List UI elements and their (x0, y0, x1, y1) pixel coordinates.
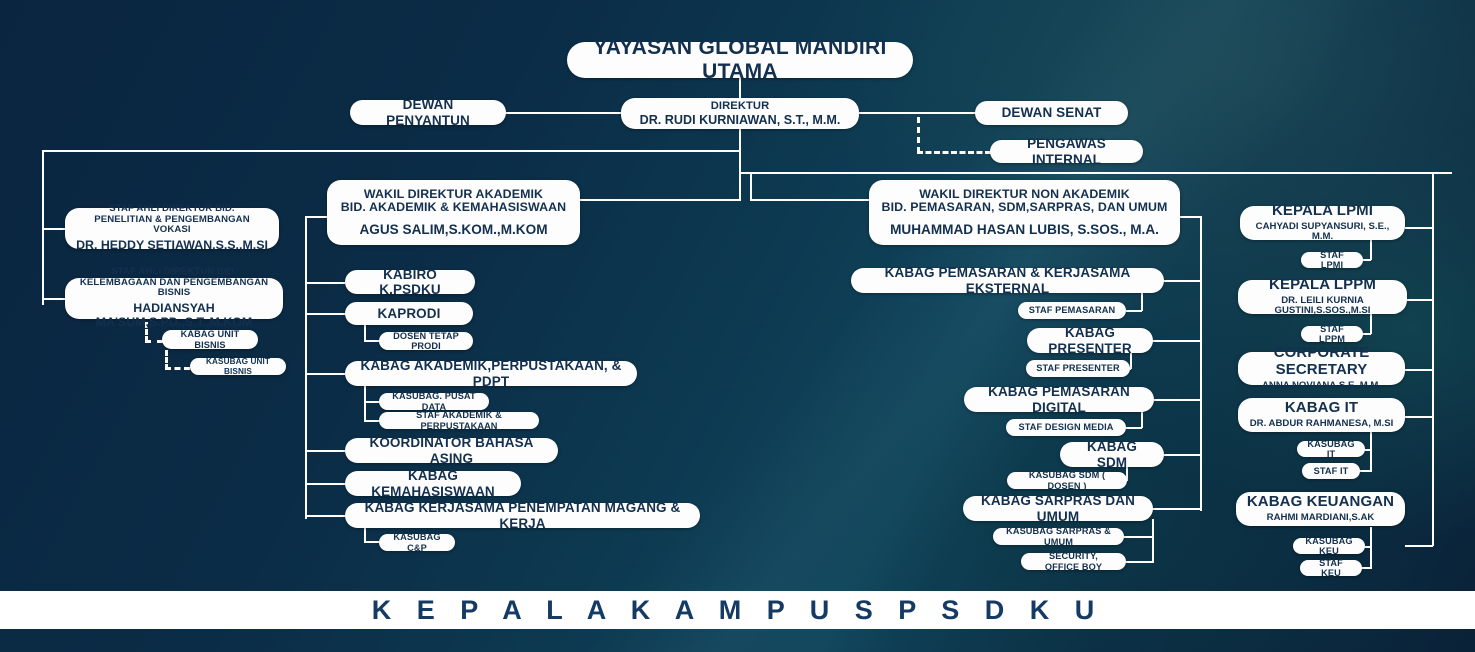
node-kepala-lppm[interactable]: KEPALA LPPM DR. LEILI KURNIA GUSTINI,S.S… (1238, 280, 1407, 314)
node-kasubag-sarpras-umum[interactable]: KASUBAG SARPRAS & UMUM (993, 528, 1124, 545)
connector-non-akademik-trunk (1200, 216, 1202, 511)
connector-right-col-4 (1405, 545, 1433, 547)
node-kabag-sarpras-umum[interactable]: KABAG SARPRAS DAN UMUM (963, 496, 1153, 521)
node-wakil-direktur-akademik[interactable]: WAKIL DIREKTUR AKADEMIK BID. AKADEMIK & … (327, 180, 580, 245)
connector-non-akademik-child-2 (1154, 399, 1202, 401)
node-dewan-senat[interactable]: DEWAN SENAT (975, 101, 1128, 125)
node-title: KASUBAG C&P (389, 532, 445, 553)
connector-kabag-akademik-sub-h2 (364, 420, 380, 422)
node-title: YAYASAN GLOBAL MANDIRI UTAMA (577, 36, 903, 83)
connector-akademik-child-5 (305, 515, 345, 517)
node-kasubag-pusat-data[interactable]: KASUBAG. PUSAT DATA (379, 393, 489, 410)
connector-non-akademik-child-4 (1152, 508, 1202, 510)
node-person-name: DR. RUDI KURNIAWAN, S.T., M.M. (640, 113, 841, 127)
footer-title: K E P A L A K A M P U S P S D K U (372, 595, 1104, 626)
node-staf-keu[interactable]: STAF KEU (1300, 560, 1362, 576)
node-wakil-direktur-non-akademik[interactable]: WAKIL DIREKTUR NON AKADEMIK BID. PEMASAR… (869, 180, 1180, 245)
connector-non-akademik-trunk-top (1178, 216, 1202, 218)
node-title: STAF AKADEMIK & PERPUSTAKAAN (389, 410, 529, 431)
node-title: KABIRO K.PSDKU (355, 267, 465, 297)
connector-sarpras-sub-h2 (1126, 561, 1153, 563)
node-person-name: MUHAMMAD HASAN LUBIS, S.SOS., M.A. (890, 222, 1159, 237)
node-person-name: DR. LEILI KURNIA GUSTINI,S.SOS.,M.SI (1248, 296, 1397, 317)
node-title: KASUBAG SARPRAS & UMUM (1003, 526, 1114, 547)
node-staf-ahli-kelembagaan[interactable]: STAF AHLI DIREKTUR BID. KELEMBAGAAN DAN … (65, 278, 283, 319)
connector-akademik-trunk-top (305, 216, 327, 218)
connector-right-col-3 (1405, 416, 1433, 418)
connector-direktur-to-dewan-senat (858, 112, 976, 114)
connector-trunk-to-wakil-akademik (739, 150, 741, 200)
connector-right-col-2 (1405, 369, 1433, 371)
connector-direktur-to-dewan-penyantun (505, 112, 625, 114)
connector-dashed-unit-bisnis-h (145, 340, 163, 343)
node-person-name: HADIANSYAH MA'SUM,S.PD.,S.T.,M.KOM (75, 302, 273, 330)
node-kaprodi[interactable]: KAPRODI (345, 302, 473, 325)
connector-kaprodi-sub-h (364, 340, 380, 342)
node-staf-lppm[interactable]: STAF LPPM (1301, 326, 1363, 342)
connector-main-bar-left (42, 150, 741, 152)
node-title: KABAG SARPRAS DAN UMUM (973, 493, 1143, 523)
node-title: PENGAWAS INTERNAL (1000, 136, 1133, 166)
node-direktur[interactable]: DIREKTUR DR. RUDI KURNIAWAN, S.T., M.M. (621, 98, 859, 129)
node-pengawas-internal[interactable]: PENGAWAS INTERNAL (990, 140, 1143, 163)
node-kabag-sdm[interactable]: KABAG SDM (1060, 442, 1164, 467)
node-kabag-kemahasiswaan[interactable]: KABAG KEMAHASISWAAN (345, 471, 521, 496)
connector-akademik-trunk (305, 216, 307, 519)
connector-pemasaran-sub-h (1126, 310, 1142, 312)
node-corporate-secretary[interactable]: CORPORATE SECRETARY ANNA NOVIANA,S.E.,M.… (1238, 352, 1405, 385)
connector-dashed-kasubag-unit-bisnis-h (165, 367, 190, 370)
node-title: DEWAN SENAT (1002, 105, 1102, 120)
node-kasubag-it[interactable]: KASUBAG IT (1297, 441, 1365, 457)
node-title: KABAG KEUANGAN (1247, 494, 1394, 511)
connector-keuangan-sub-v (1370, 527, 1372, 569)
connector-non-akademik-child-1 (1152, 340, 1202, 342)
connector-right-col-1 (1405, 299, 1433, 301)
node-person-name: DR. HEDDY SETIAWAN,S.S.,M.SI (76, 239, 268, 253)
node-security-office-boy[interactable]: SECURITY, OFFICE BOY (1021, 553, 1126, 570)
connector-staff-ahli-2 (42, 298, 65, 300)
node-staf-ahli-vokasi[interactable]: STAF AHLI DIREKTUR BID. PENELITIAN & PEN… (65, 208, 279, 249)
node-title: KOORDINATOR BAHASA ASING (355, 435, 548, 465)
connector-kabag-kerjasama-sub-h (364, 541, 380, 543)
node-kepala-lpmi[interactable]: KEPALA LPMI CAHYADI SUPYANSURI, S.E., M.… (1240, 206, 1405, 240)
node-person-name: ANNA NOVIANA,S.E.,M.M. (1262, 381, 1381, 392)
node-dosen-tetap-prodi[interactable]: DOSEN TETAP PRODI (379, 332, 473, 350)
node-staf-design-media[interactable]: STAF DESIGN MEDIA (1006, 419, 1126, 436)
node-title-line1: WAKIL DIREKTUR NON AKADEMIK (919, 188, 1130, 202)
node-title: CORPORATE SECRETARY (1248, 345, 1395, 379)
connector-wakil-akademik-in (578, 199, 741, 201)
node-kasubag-unit-bisnis[interactable]: KASUBAG UNIT BISNIS (190, 358, 286, 375)
connector-akademik-child-2 (305, 373, 345, 375)
node-title: STAF PEMASARAN (1029, 305, 1115, 315)
node-staf-akademik-perpustakaan[interactable]: STAF AKADEMIK & PERPUSTAKAAN (379, 412, 539, 429)
connector-wakil-non-akademik-in (750, 199, 870, 201)
node-dewan-penyantun[interactable]: DEWAN PENYANTUN (350, 100, 506, 125)
node-kasubag-keu[interactable]: KASUBAG KEU (1293, 538, 1365, 554)
node-kabag-kerjasama-magang-kerja[interactable]: KABAG KERJASAMA PENEMPATAN MAGANG & KERJ… (345, 503, 700, 528)
node-kabag-presenter[interactable]: KABAG PRESENTER (1027, 328, 1153, 353)
node-person-name: DR. ABDUR RAHMANESA, M.SI (1250, 419, 1394, 430)
node-title: KASUBAG. PUSAT DATA (389, 391, 479, 412)
node-title: STAF PRESENTER (1036, 363, 1119, 373)
connector-non-akademik-child-0 (1163, 280, 1202, 282)
connector-akademik-child-3 (305, 450, 345, 452)
node-kabag-unit-bisnis[interactable]: KABAG UNIT BISNIS (162, 330, 258, 349)
node-kabag-it[interactable]: KABAG IT DR. ABDUR RAHMANESA, M.SI (1238, 398, 1405, 432)
node-title: STAF IT (1314, 466, 1349, 476)
connector-digital-sub-h (1126, 427, 1142, 429)
node-title: KASUBAG SDM ( DOSEN ) (1017, 470, 1117, 491)
node-title: KABAG PEMASARAN DIGITAL (974, 384, 1144, 414)
node-title: SECURITY, OFFICE BOY (1031, 551, 1116, 572)
connector-akademik-child-4 (305, 483, 345, 485)
node-title: DEWAN PENYANTUN (360, 97, 496, 127)
connector-kabag-akademik-sub-h1 (364, 401, 380, 403)
connector-sarpras-sub-h1 (1124, 536, 1153, 538)
node-title: KABAG KEMAHASISWAAN (355, 468, 511, 498)
node-title: KABAG SDM (1070, 439, 1154, 469)
connector-staff-ahli-1 (42, 228, 65, 230)
node-title-line1: WAKIL DIREKTUR AKADEMIK (364, 188, 543, 202)
node-person-name: CAHYADI SUPYANSURI, S.E., M.M. (1250, 222, 1395, 243)
node-title-line2: BID. AKADEMIK & KEMAHASISWAAN (341, 201, 566, 215)
node-title: DIREKTUR (711, 100, 770, 113)
connector-akademik-child-0 (305, 282, 345, 284)
connector-direktur-down (739, 129, 741, 151)
node-person-name: AGUS SALIM,S.KOM.,M.KOM (359, 222, 547, 237)
node-koordinator-bahasa-asing[interactable]: KOORDINATOR BAHASA ASING (345, 438, 558, 463)
node-title: KEPALA LPMI (1272, 203, 1373, 220)
node-title: KABAG PEMASARAN & KERJASAMA EKSTERNAL (861, 265, 1154, 295)
node-title: KABAG AKADEMIK,PERPUSTAKAAN, & PDPT (355, 358, 627, 388)
node-yayasan-global-mandiri-utama[interactable]: YAYASAN GLOBAL MANDIRI UTAMA (567, 42, 913, 78)
connector-kabagit-sub-v (1370, 430, 1372, 472)
node-kabag-pemasaran-kerjasama-eksternal[interactable]: KABAG PEMASARAN & KERJASAMA EKSTERNAL (851, 268, 1164, 293)
node-title: KABAG KERJASAMA PENEMPATAN MAGANG & KERJ… (355, 500, 690, 530)
node-title-line2: PENELITIAN & PENGEMBANGAN VOKASI (75, 215, 269, 236)
org-chart-canvas: YAYASAN GLOBAL MANDIRI UTAMA DEWAN PENYA… (0, 0, 1475, 652)
connector-right-col-0 (1405, 227, 1433, 229)
connector-kaprodi-sub-v (364, 324, 366, 341)
node-kabag-akademik-perpustakaan-pdpt[interactable]: KABAG AKADEMIK,PERPUSTAKAAN, & PDPT (345, 361, 637, 386)
node-kabag-keuangan[interactable]: KABAG KEUANGAN RAHMI MARDIANI,S.AK (1236, 492, 1405, 526)
node-title-line2: KELEMBAGAAN DAN PENGEMBANGAN BISNIS (75, 278, 273, 299)
node-kabiro-kpsdku[interactable]: KABIRO K.PSDKU (345, 270, 475, 294)
node-staf-lpmi[interactable]: STAF LPMI (1301, 252, 1363, 268)
node-kasubag-sdm-dosen[interactable]: KASUBAG SDM ( DOSEN ) (1007, 472, 1127, 489)
connector-dashed-pengawas-vertical (917, 117, 920, 153)
connector-sarpras-sub-v (1152, 519, 1154, 563)
node-title: STAF LPPM (1311, 324, 1353, 345)
node-title: DOSEN TETAP PRODI (389, 331, 463, 352)
node-title: KAPRODI (378, 306, 441, 321)
node-staf-pemasaran[interactable]: STAF PEMASARAN (1018, 302, 1126, 319)
connector-non-akademik-child-3 (1163, 454, 1202, 456)
node-title: KABAG IT (1285, 400, 1358, 417)
node-kabag-pemasaran-digital[interactable]: KABAG PEMASARAN DIGITAL (964, 387, 1154, 412)
node-title: KABAG PRESENTER (1037, 325, 1143, 355)
footer-banner: K E P A L A K A M P U S P S D K U (0, 591, 1475, 629)
connector-akademik-child-1 (305, 313, 345, 315)
node-title: STAF DESIGN MEDIA (1019, 422, 1114, 432)
connector-main-bar-right (739, 172, 1452, 174)
node-person-name: RAHMI MARDIANI,S.AK (1267, 513, 1375, 524)
node-staf-presenter[interactable]: STAF PRESENTER (1026, 360, 1130, 377)
node-staf-it[interactable]: STAF IT (1302, 463, 1360, 479)
connector-dashed-pengawas-horizontal (917, 151, 991, 154)
node-title: KASUBAG KEU (1303, 536, 1355, 557)
node-title: STAF KEU (1310, 558, 1352, 579)
node-title: KABAG UNIT BISNIS (172, 329, 248, 350)
node-title: KEPALA LPPM (1269, 277, 1376, 294)
node-title: KASUBAG IT (1307, 439, 1355, 460)
node-title-line2: BID. PEMASARAN, SDM,SARPRAS, DAN UMUM (882, 201, 1168, 215)
node-kasubag-cp[interactable]: KASUBAG C&P (379, 534, 455, 551)
connector-trunk-to-wakil-non-akademik (750, 172, 752, 200)
node-title: STAF LPMI (1311, 250, 1353, 271)
node-title: KASUBAG UNIT BISNIS (200, 357, 276, 375)
